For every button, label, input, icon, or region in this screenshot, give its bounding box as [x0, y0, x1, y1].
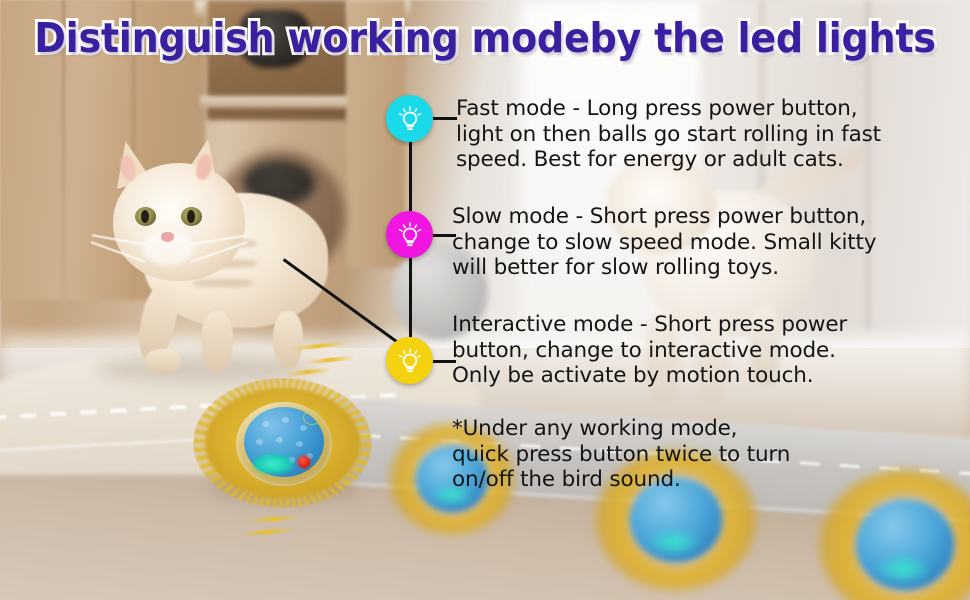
background-scene — [0, 0, 970, 600]
callout-text-slow-mode: Slow mode - Short press power button, ch… — [452, 204, 968, 281]
cat-eye-right — [181, 207, 202, 226]
cat-eye-left — [135, 207, 156, 226]
page-title: Distinguish working modeby the led light… — [34, 14, 936, 62]
infographic-canvas: Distinguish working modeby the led light… — [0, 0, 970, 600]
toy-led-glow — [253, 454, 293, 474]
cat-paw-pad — [145, 349, 181, 375]
footnote-text: *Under any working mode, quick press but… — [452, 416, 952, 493]
cat-toy-ball — [205, 388, 360, 498]
cat-leg-rear — [273, 311, 303, 369]
lightbulb-icon — [395, 220, 425, 250]
badge-interactive-mode[interactable] — [386, 337, 433, 384]
led-indicator-dot — [298, 456, 310, 468]
callout-text-interactive-mode: Interactive mode - Short press power but… — [452, 312, 952, 389]
lightbulb-icon — [395, 346, 425, 376]
toy-logo-icon — [303, 410, 321, 425]
cat-nose — [161, 232, 174, 242]
shelf-board — [200, 96, 360, 108]
badge-slow-mode[interactable] — [386, 211, 433, 258]
cat-leg — [201, 311, 233, 373]
lightbulb-icon — [395, 104, 425, 134]
callout-text-fast-mode: Fast mode - Long press power button, lig… — [456, 96, 966, 173]
callout-lead-line — [431, 117, 457, 120]
badge-fast-mode[interactable] — [386, 95, 433, 142]
